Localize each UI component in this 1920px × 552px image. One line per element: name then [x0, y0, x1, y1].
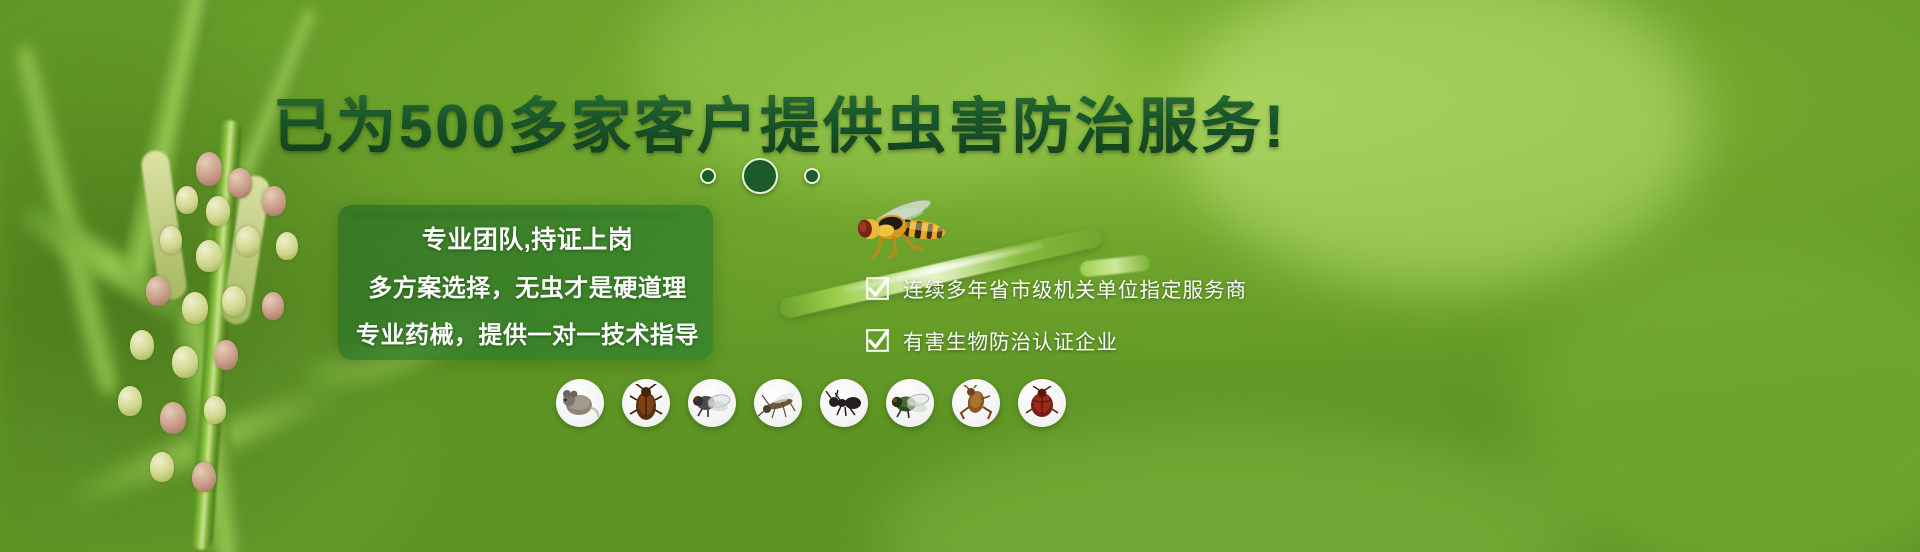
- dot-small-icon: [804, 168, 820, 184]
- feature-panel-text: 专业团队,持证上岗 多方案选择，无虫才是硬道理 专业药械，提供一对一技术指导: [330, 210, 725, 360]
- pest-icon-row: [556, 379, 1066, 427]
- feature-line-3: 专业药械，提供一对一技术指导: [356, 315, 699, 350]
- page-title: 已为500多家客户提供虫害防治服务!: [0, 78, 1560, 165]
- fly-icon[interactable]: [688, 379, 736, 427]
- certification-list: 连续多年省市级机关单位指定服务商 有害生物防治认证企业: [866, 273, 1247, 377]
- list-item: 连续多年省市级机关单位指定服务商: [866, 273, 1247, 303]
- list-item-label: 有害生物防治认证企业: [903, 325, 1118, 355]
- list-item: 有害生物防治认证企业: [866, 325, 1247, 355]
- feature-line-1: 专业团队,持证上岗: [422, 220, 633, 256]
- bedbug-icon[interactable]: [1018, 379, 1066, 427]
- checkbox-checked-icon: [866, 277, 889, 300]
- checkbox-checked-icon: [866, 329, 889, 352]
- hoverfly-image: [842, 192, 958, 263]
- ant-icon[interactable]: [820, 379, 868, 427]
- dot-small-icon: [700, 168, 716, 184]
- housefly-icon[interactable]: [886, 379, 934, 427]
- list-item-label: 连续多年省市级机关单位指定服务商: [903, 273, 1247, 303]
- mosquito-icon[interactable]: [754, 379, 802, 427]
- feature-line-2: 多方案选择，无虫才是硬道理: [368, 268, 687, 303]
- promo-banner: 已为500多家客户提供虫害防治服务! 已为500多家客户提供虫害防治服务! 专业…: [0, 0, 1920, 552]
- headline-text: 已为500多家客户提供虫害防治服务!: [273, 78, 1287, 165]
- mouse-icon[interactable]: [556, 379, 604, 427]
- cockroach-icon[interactable]: [622, 379, 670, 427]
- flea-icon[interactable]: [952, 379, 1000, 427]
